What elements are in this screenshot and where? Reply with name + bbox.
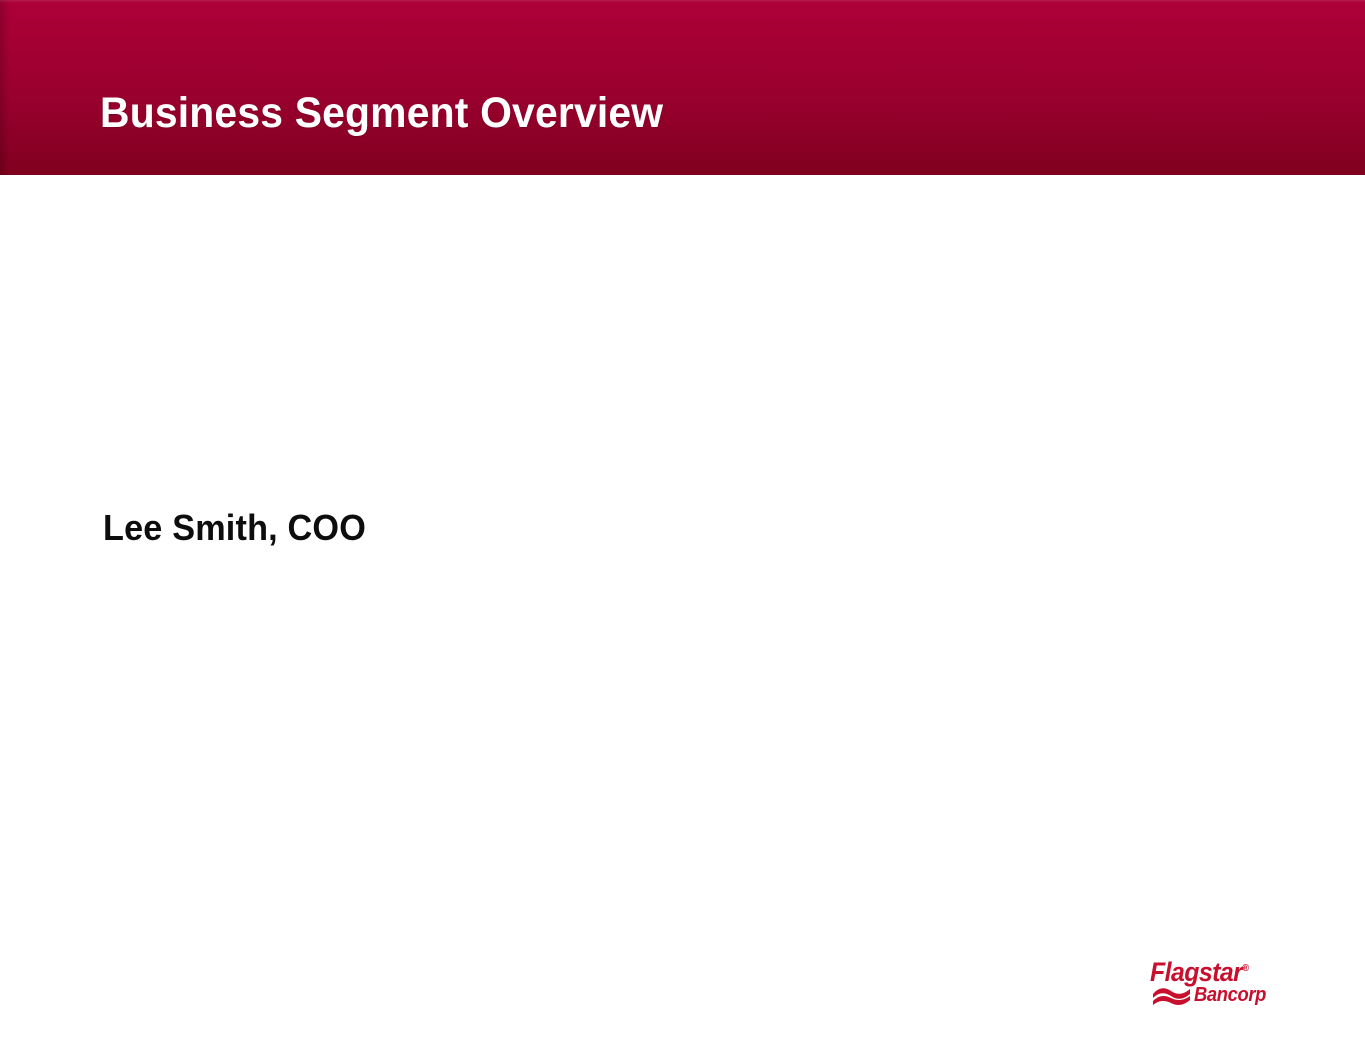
title-banner: Business Segment Overview bbox=[0, 0, 1365, 175]
registered-trademark-icon: ® bbox=[1242, 963, 1249, 974]
presentation-slide: Business Segment Overview Lee Smith, COO… bbox=[0, 0, 1365, 1055]
logo-subword-label: Bancorp bbox=[1194, 984, 1266, 1006]
page-title: Business Segment Overview bbox=[100, 89, 663, 137]
logo-lower-lockup: Bancorp bbox=[1150, 983, 1270, 1009]
wave-swoosh-icon bbox=[1152, 985, 1192, 1007]
presenter-name-title: Lee Smith, COO bbox=[103, 507, 366, 549]
slide-body: Lee Smith, COO bbox=[0, 175, 1365, 1055]
logo-wordmark-text: Flagstar® bbox=[1150, 955, 1249, 986]
flagstar-bancorp-logo: Flagstar® Bancorp bbox=[1150, 955, 1270, 1009]
